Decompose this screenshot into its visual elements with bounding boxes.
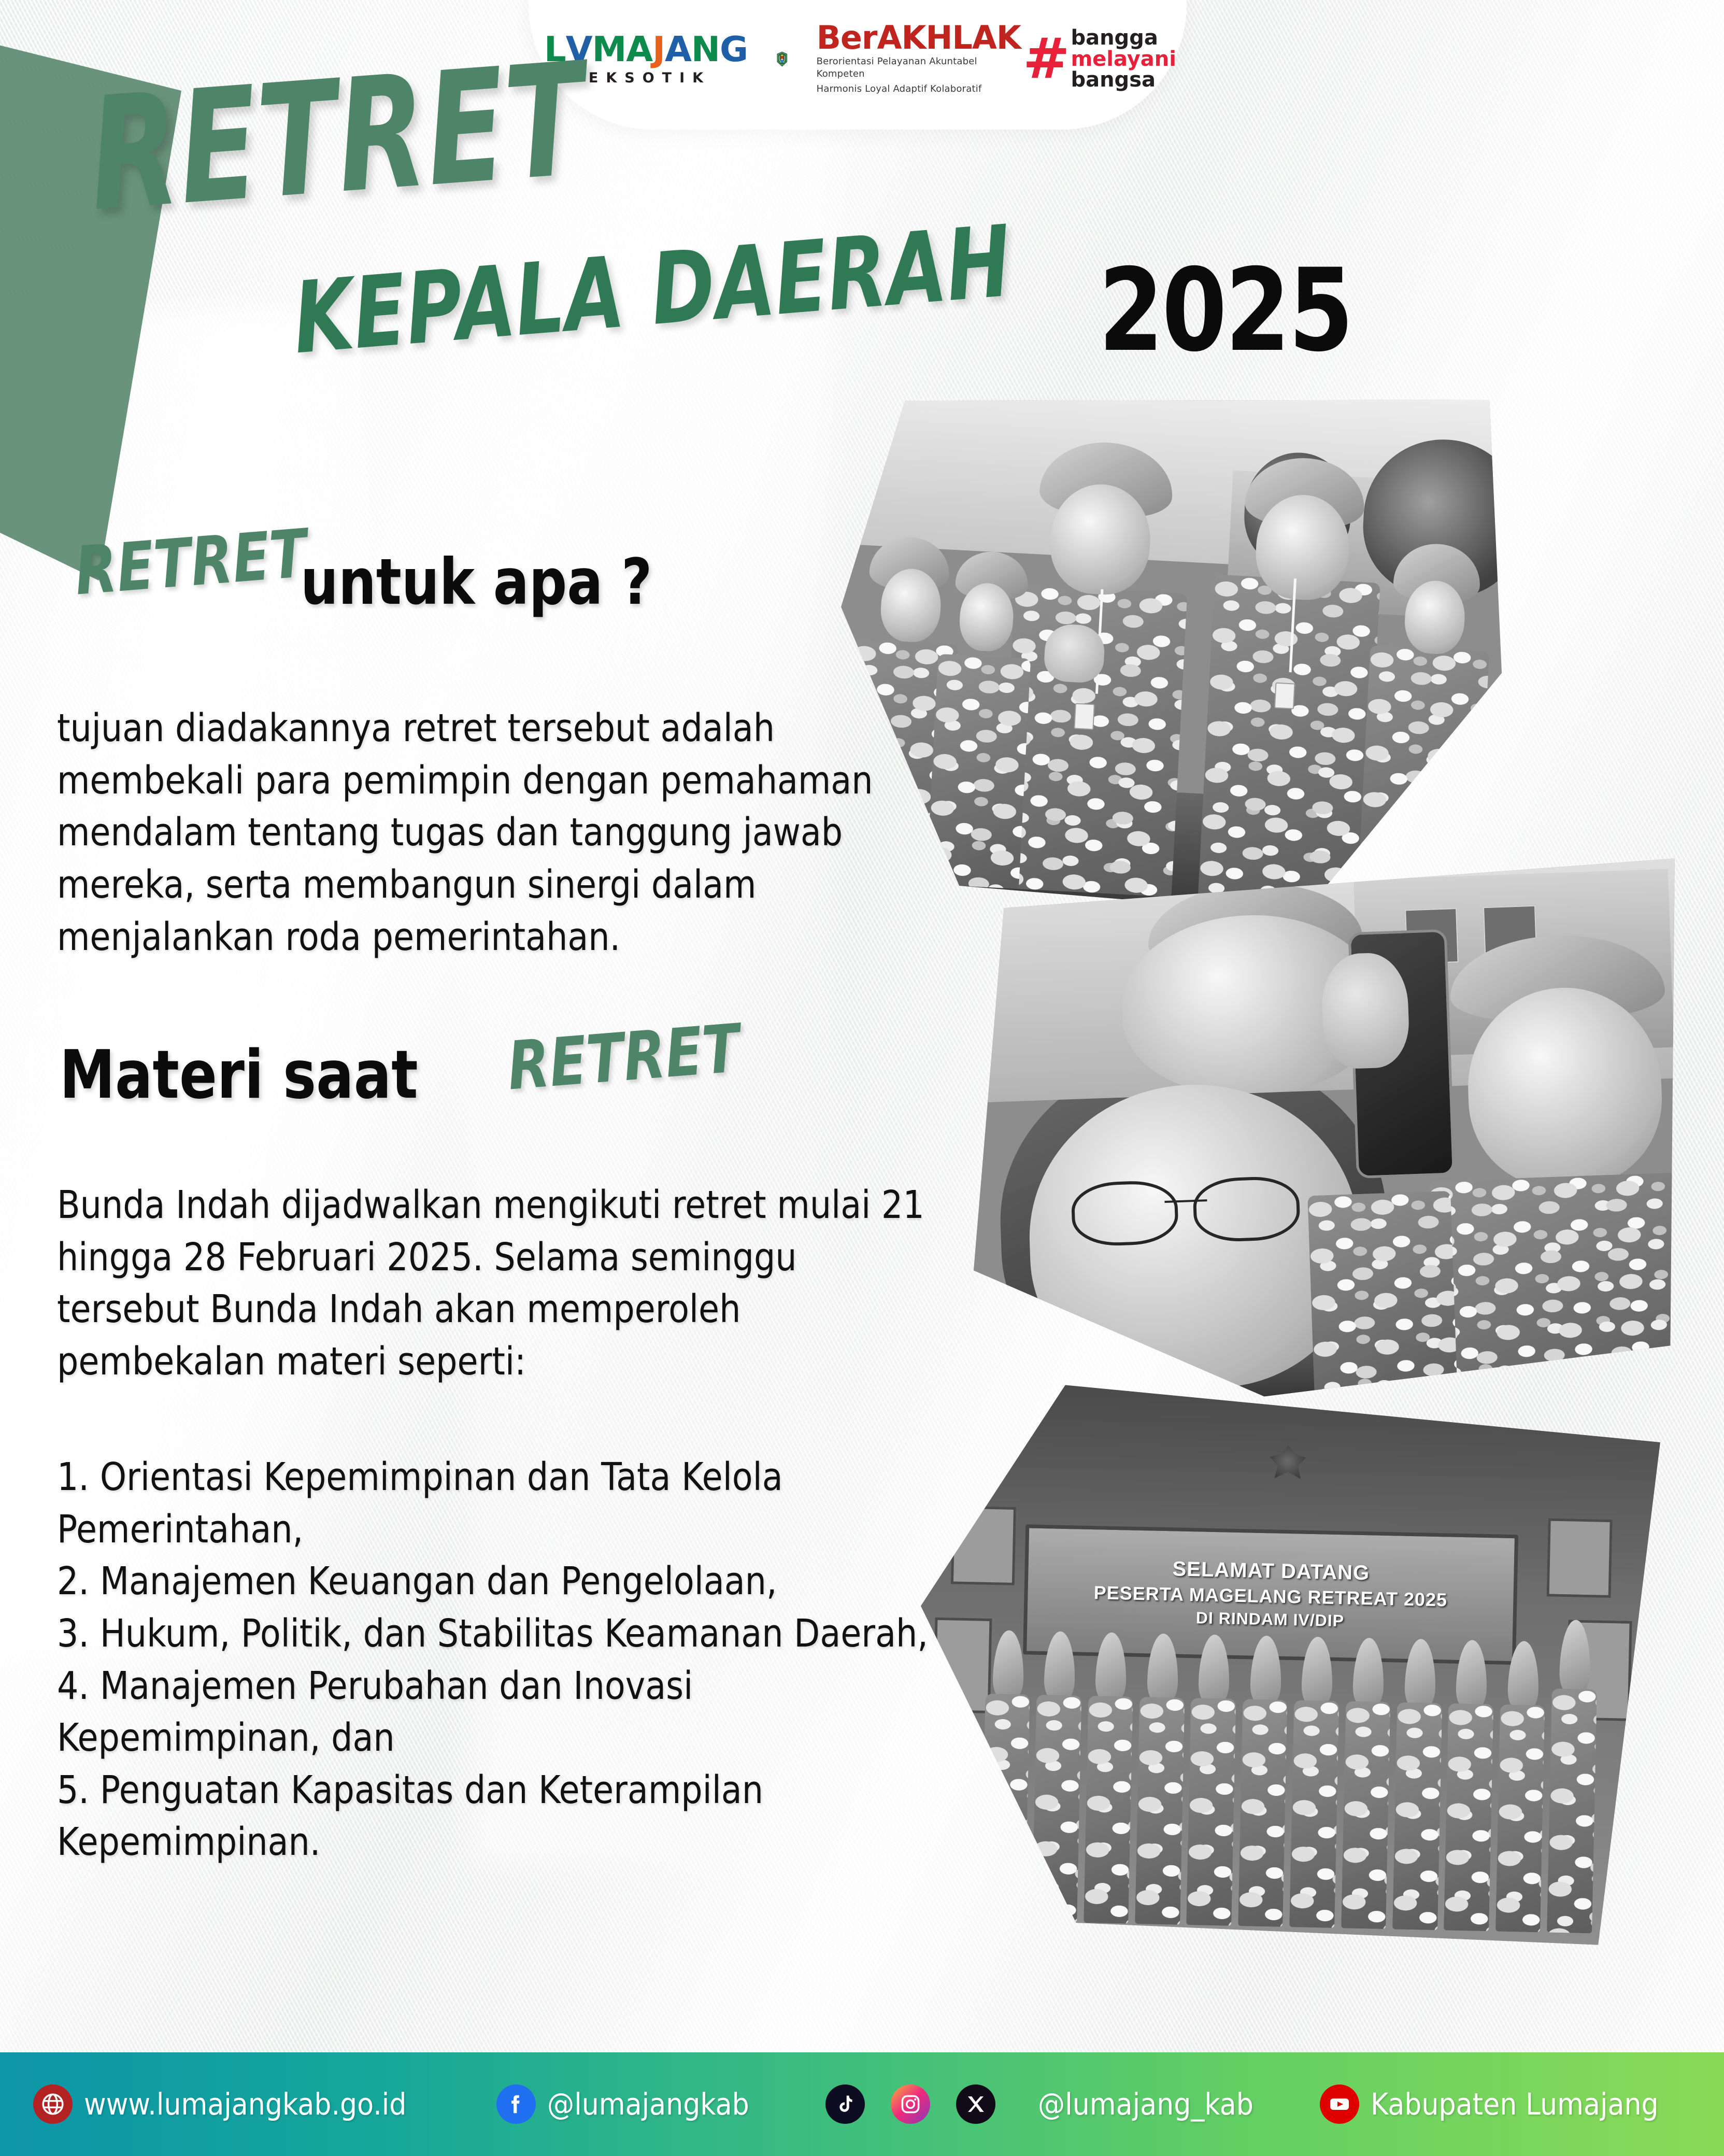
tiktok-icon [825, 2084, 865, 2124]
photo-collage: SELAMAT DATANG PESERTA MAGELANG RETREAT … [829, 384, 1724, 2032]
facebook-handle: @lumajangkab [547, 2089, 749, 2119]
footer-bar: www.lumajangkab.go.id @lumajangkab [0, 2052, 1724, 2156]
bangga-melayani-line3: bangsa [1071, 69, 1176, 91]
youtube-icon [1320, 2084, 1359, 2124]
footer-social-group[interactable]: @lumajang_kab [825, 2084, 1277, 2124]
berakhlak-wordmark: BerAKHLAK [817, 23, 1021, 53]
x-twitter-icon [956, 2084, 995, 2124]
footer-website[interactable]: www.lumajangkab.go.id [33, 2084, 443, 2124]
kabupaten-lumajang-crest-icon [777, 15, 788, 104]
footer-youtube[interactable]: Kabupaten Lumajang [1320, 2084, 1690, 2124]
headline-retret: RETRET [86, 56, 589, 219]
globe-icon [33, 2084, 73, 2124]
bangga-melayani-line1: bangga [1071, 27, 1176, 49]
photo-selfie-content [960, 858, 1693, 1407]
berakhlak-values-line1: Berorientasi Pelayanan Akuntabel Kompete… [817, 55, 1021, 81]
photo-parade-content [826, 366, 1516, 924]
photo-group-hall-content: SELAMAT DATANG PESERTA MAGELANG RETREAT … [914, 1371, 1661, 1946]
berakhlak-values-line2: Harmonis Loyal Adaptif Kolaboratif [817, 83, 1021, 95]
section2-heading-black: Materi saat [60, 1042, 418, 1109]
website-url: www.lumajangkab.go.id [84, 2089, 406, 2119]
instagram-icon [891, 2084, 930, 2124]
banner-line-2: PESERTA MAGELANG RETREAT 2025 [1093, 1582, 1447, 1611]
section1-heading-black: untuk apa ? [301, 550, 652, 614]
headline-year: 2025 [1099, 259, 1352, 362]
photo-selfie [960, 858, 1693, 1407]
poster-canvas: LVMAJANG EKSOTIK BerAKHLAK Berorientasi … [0, 0, 1724, 2156]
photo-parade [826, 366, 1516, 924]
section1-heading-green: RETRET [73, 521, 309, 605]
photo-group-hall: SELAMAT DATANG PESERTA MAGELANG RETREAT … [914, 1371, 1661, 1946]
hashtag-icon: # [1023, 37, 1070, 81]
headline-kepala-daerah: KEPALA DAERAH [290, 217, 1015, 363]
lumajang-tagline: EKSOTIK [581, 70, 711, 86]
banner-line-1: SELAMAT DATANG [1172, 1558, 1370, 1585]
bangga-melayani-line2: melayani [1071, 49, 1176, 70]
facebook-icon [496, 2084, 536, 2124]
youtube-channel: Kabupaten Lumajang [1371, 2089, 1659, 2119]
logo-row: LVMAJANG EKSOTIK BerAKHLAK Berorientasi … [544, 12, 1176, 106]
berakhlak-logo: BerAKHLAK Berorientasi Pelayanan Akuntab… [817, 23, 1176, 95]
social-handle: @lumajang_kab [1038, 2089, 1253, 2119]
footer-facebook[interactable]: @lumajangkab [496, 2084, 772, 2124]
banner-line-3: DI RINDAM IV/DIP [1195, 1609, 1344, 1631]
section2-heading-green: RETRET [505, 1016, 742, 1100]
